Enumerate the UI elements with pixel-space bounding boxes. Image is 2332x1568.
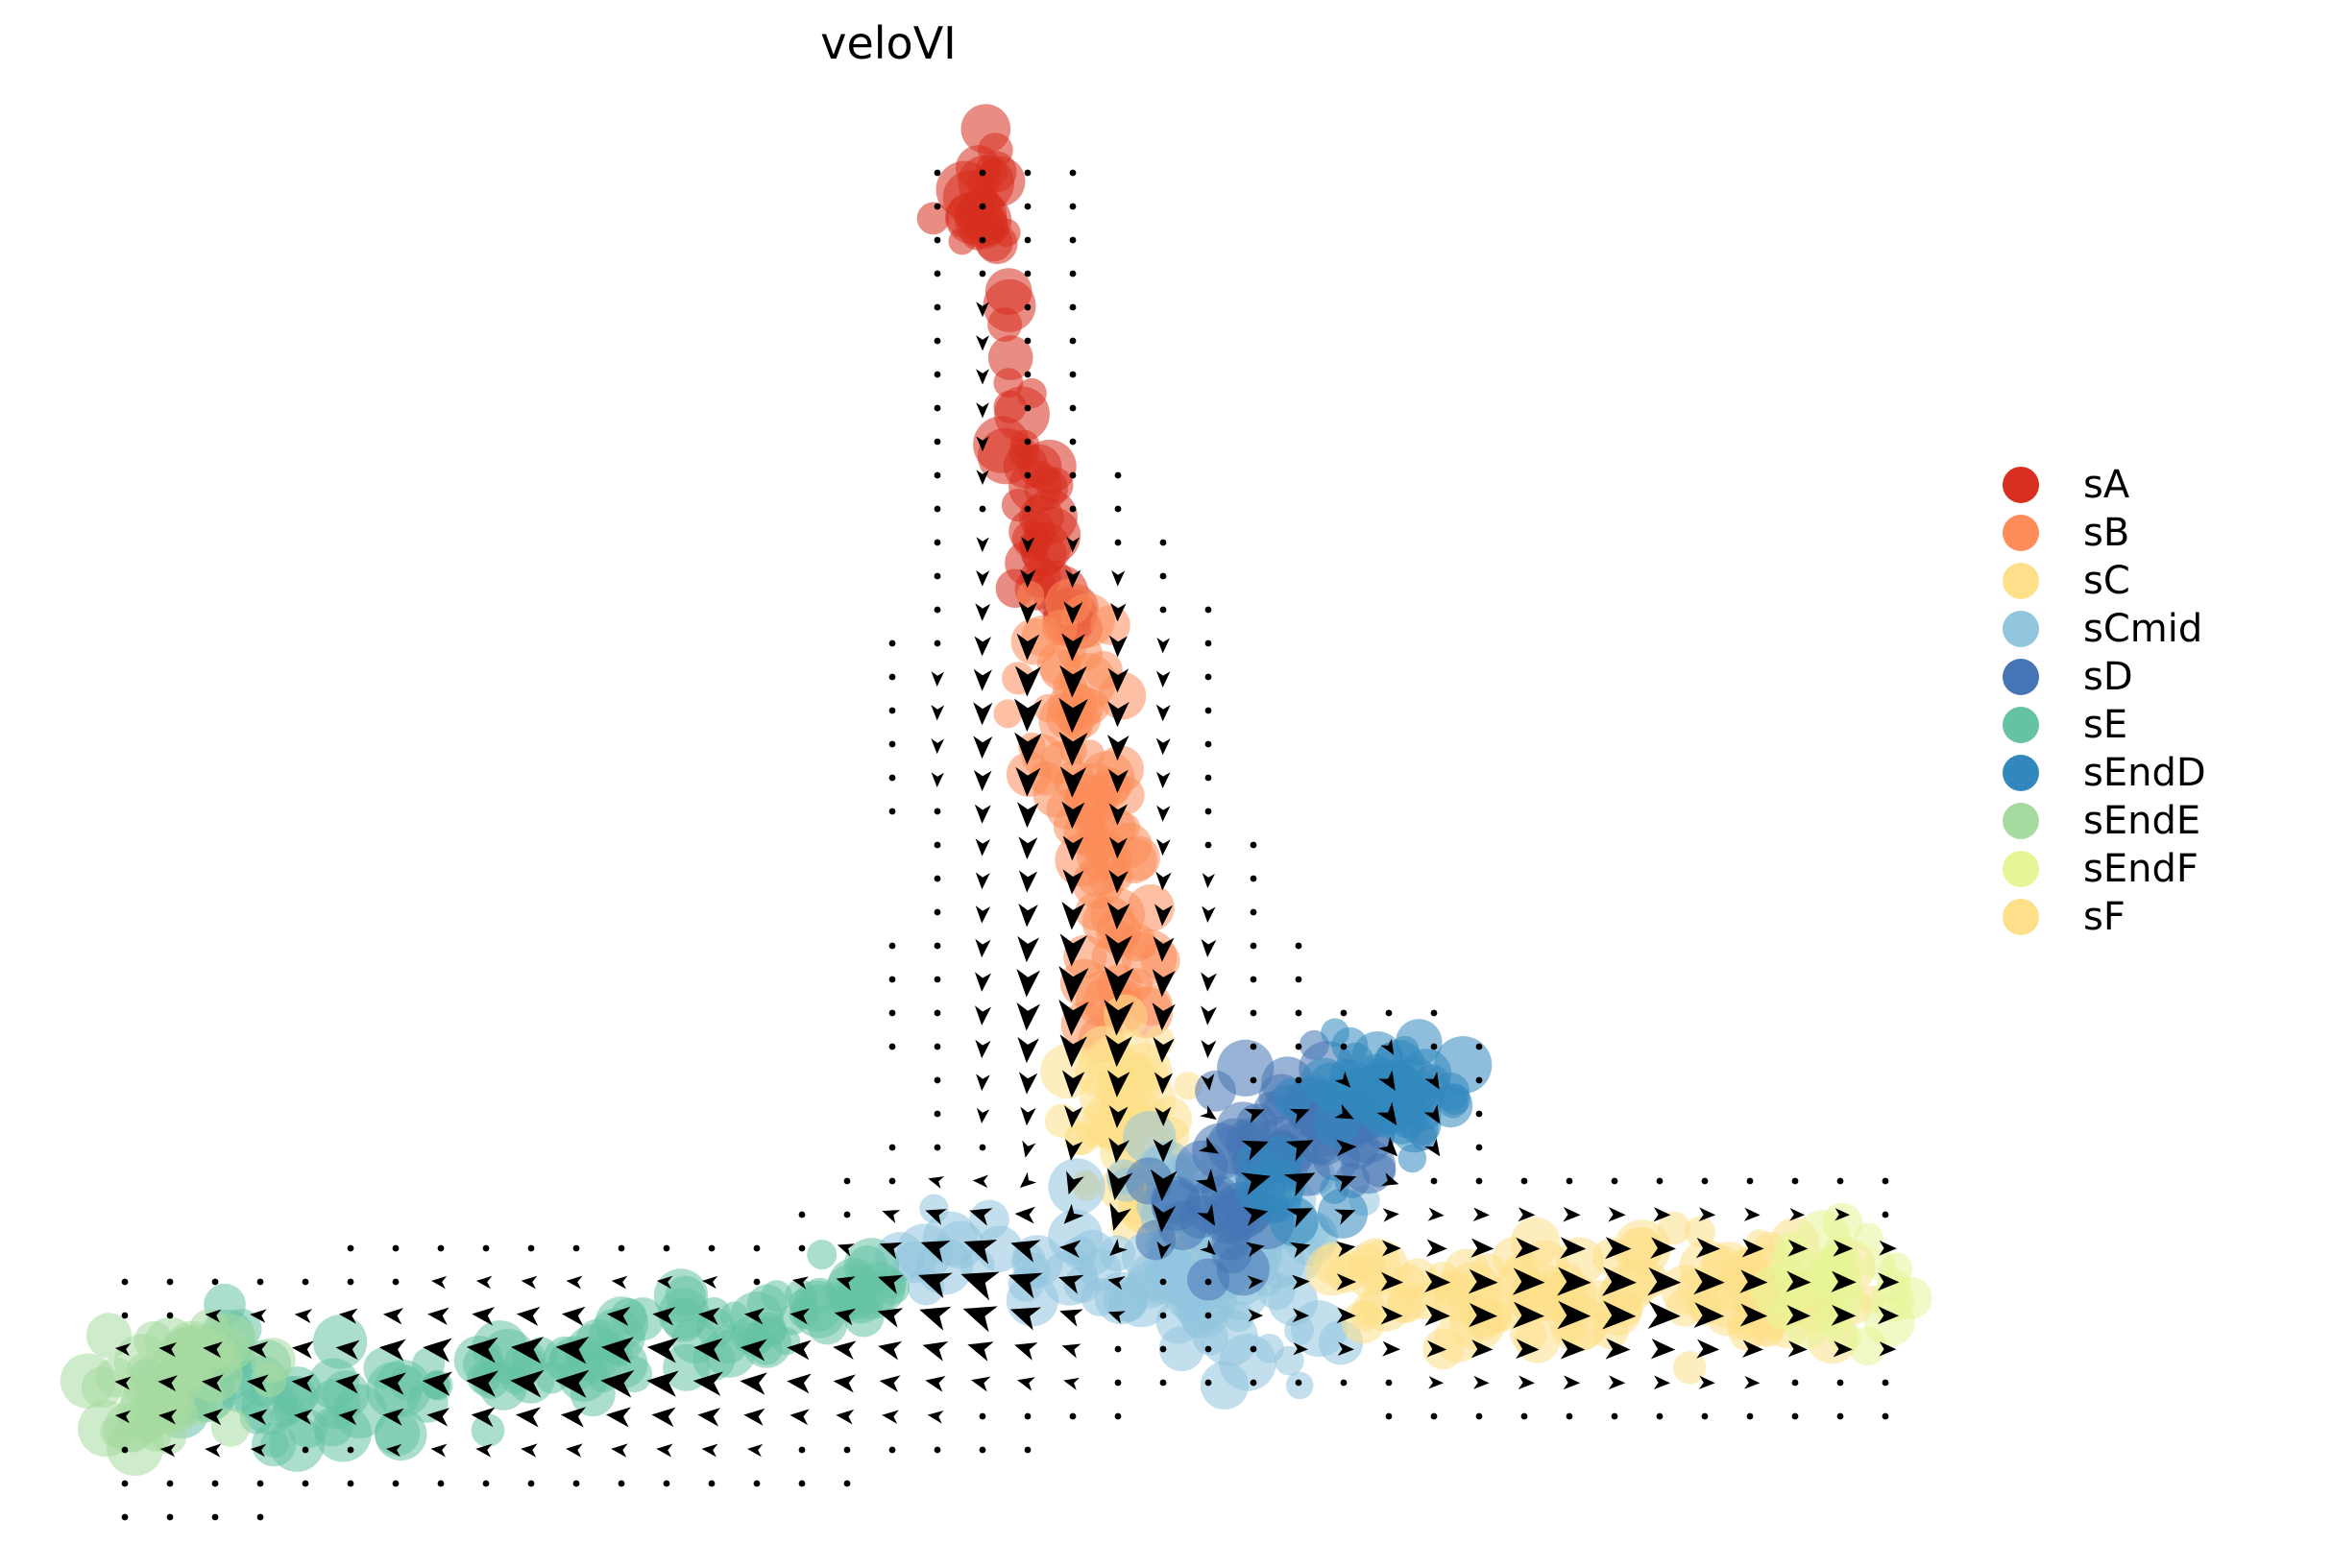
velocity-arrow-icon (1020, 939, 1037, 959)
velocity-null-dot (483, 1481, 490, 1487)
velocity-null-dot (303, 1481, 309, 1487)
velocity-arrow-icon (1202, 941, 1214, 955)
legend-item-scmid[interactable]: sCmid (2003, 605, 2320, 653)
legend-swatch-icon (2003, 515, 2039, 551)
scatter-point (720, 1301, 749, 1330)
legend-item-se[interactable]: sE (2003, 701, 2320, 749)
velocity-null-dot (1205, 842, 1212, 849)
velocity-arrow-icon (206, 1445, 220, 1456)
velocity-arrow-icon (1384, 1343, 1398, 1355)
velocity-null-dot (889, 808, 896, 815)
velocity-arrow-icon (658, 1445, 671, 1456)
velocity-arrow-icon (978, 572, 988, 585)
velocity-arrow-icon (1023, 1143, 1033, 1156)
velocity-null-dot (1070, 170, 1077, 177)
velocity-arrow-icon (564, 1409, 584, 1425)
legend-item-sa[interactable]: sA (2003, 461, 2320, 509)
velocity-arrow-icon (1475, 1377, 1488, 1387)
scatter-point (961, 104, 1011, 154)
velocity-null-dot (935, 170, 941, 177)
velocity-arrow-icon (294, 1342, 311, 1357)
velocity-null-dot (1657, 1178, 1664, 1185)
velocity-arrow-icon (1429, 1242, 1445, 1255)
velocity-null-dot (528, 1245, 535, 1252)
velocity-null-dot (935, 909, 941, 916)
velocity-null-dot (1296, 977, 1302, 983)
scatter-point (1217, 1242, 1270, 1295)
velocity-arrow-icon (613, 1445, 626, 1456)
velocity-null-dot (1837, 1178, 1844, 1185)
velocity-arrow-icon (519, 1409, 538, 1425)
legend-swatch-icon (2003, 611, 2039, 647)
velocity-null-dot (889, 977, 896, 983)
velocity-null-dot (935, 405, 941, 412)
velocity-null-dot (1431, 1413, 1438, 1420)
velocity-null-dot (1792, 1413, 1799, 1420)
velocity-null-dot (167, 1313, 174, 1319)
velocity-null-dot (438, 1481, 445, 1487)
scatter-point (260, 1430, 288, 1458)
velocity-null-dot (1160, 1380, 1167, 1387)
velocity-null-dot (167, 1514, 174, 1521)
velocity-arrow-icon (978, 371, 988, 383)
velocity-null-dot (257, 1514, 264, 1521)
velocity-arrow-icon (928, 1377, 944, 1389)
velocity-null-dot (1296, 1077, 1302, 1084)
scatter-point (761, 1280, 792, 1312)
scatter-point (919, 1194, 948, 1223)
velocity-arrow-icon (978, 1110, 987, 1122)
velocity-null-dot (1205, 1380, 1212, 1387)
legend-item-sende[interactable]: sEndE (2003, 797, 2320, 845)
velocity-null-dot (1431, 1044, 1438, 1050)
velocity-arrow-icon (1158, 774, 1169, 787)
velocity-null-dot (1567, 1413, 1573, 1420)
velocity-null-dot (1296, 1044, 1302, 1050)
velocity-null-dot (1476, 1044, 1483, 1050)
velocity-null-dot (1702, 1178, 1709, 1185)
legend-item-sendf[interactable]: sEndF (2003, 845, 2320, 893)
legend-item-label: sEndF (2083, 850, 2198, 888)
velocity-null-dot (1883, 1380, 1889, 1387)
velocity-arrow-icon (703, 1445, 716, 1456)
velocity-arrow-icon (1611, 1377, 1624, 1388)
velocity-null-dot (935, 842, 941, 849)
velocity-null-dot (1025, 506, 1032, 513)
velocity-null-dot (1115, 472, 1122, 479)
velocity-null-dot (1386, 1010, 1393, 1017)
velocity-arrow-icon (564, 1309, 582, 1324)
velocity-arrow-icon (432, 1445, 445, 1456)
legend-item-sendd[interactable]: sEndD (2003, 749, 2320, 797)
velocity-arrow-icon (1021, 1174, 1034, 1187)
velocity-null-dot (212, 1514, 219, 1521)
velocity-arrow-icon (522, 1277, 535, 1288)
velocity-null-dot (1296, 943, 1302, 950)
velocity-null-dot (483, 1245, 490, 1252)
velocity-null-dot (935, 271, 941, 277)
velocity-null-dot (889, 1044, 896, 1050)
velocity-null-dot (122, 1447, 129, 1454)
legend-item-label: sC (2083, 562, 2130, 600)
velocity-null-dot (1657, 1413, 1664, 1420)
legend-swatch-icon (2003, 851, 2039, 887)
velocity-arrow-icon (977, 941, 989, 955)
velocity-arrow-icon (1202, 975, 1215, 990)
velocity-arrow-icon (1520, 1377, 1533, 1387)
velocity-arrow-icon (975, 738, 990, 757)
velocity-arrow-icon (882, 1377, 898, 1390)
velocity-arrow-icon (654, 1410, 673, 1425)
velocity-arrow-icon (976, 671, 990, 688)
velocity-null-dot (935, 204, 941, 210)
velocity-null-dot (799, 1245, 806, 1252)
legend-item-sc[interactable]: sC (2003, 557, 2320, 605)
velocity-arrow-icon (474, 1309, 493, 1323)
velocity-null-dot (935, 1010, 941, 1017)
velocity-null-dot (889, 943, 896, 950)
velocity-null-dot (889, 775, 896, 782)
velocity-null-dot (935, 1145, 941, 1151)
velocity-arrow-icon (433, 1277, 446, 1287)
scatter-point (201, 1314, 257, 1370)
velocity-arrow-icon (1022, 1109, 1034, 1123)
legend: sAsBsCsCmidsDsEsEndDsEndEsEndFsF (2003, 461, 2320, 941)
scatter-point (936, 161, 994, 219)
velocity-null-dot (393, 1279, 400, 1286)
velocity-null-dot (1431, 1178, 1438, 1185)
velocity-arrow-icon (429, 1309, 447, 1322)
velocity-arrow-icon (1158, 673, 1169, 686)
legend-swatch-icon (2003, 659, 2039, 695)
velocity-null-dot (1025, 204, 1032, 210)
velocity-arrow-icon (836, 1376, 853, 1390)
velocity-arrow-icon (1157, 707, 1169, 720)
scatter-point (807, 1240, 837, 1269)
legend-item-label: sEndE (2083, 802, 2200, 840)
velocity-null-dot (1883, 1178, 1889, 1185)
velocity-null-dot (1025, 271, 1032, 277)
scatter-point (1391, 1036, 1420, 1065)
velocity-arrow-icon (1656, 1377, 1669, 1387)
velocity-null-dot (1612, 1413, 1618, 1420)
velocity-arrow-icon (1019, 1005, 1037, 1027)
velocity-null-dot (935, 338, 941, 345)
velocity-arrow-icon (1202, 1042, 1215, 1056)
velocity-arrow-icon (746, 1411, 763, 1424)
velocity-arrow-icon (978, 404, 988, 417)
velocity-null-dot (1115, 1380, 1122, 1387)
velocity-null-dot (1837, 1413, 1844, 1420)
velocity-arrow-icon (1064, 1345, 1080, 1357)
velocity-null-dot (1070, 204, 1077, 210)
velocity-null-dot (573, 1481, 580, 1487)
velocity-null-dot (980, 170, 986, 177)
velocity-null-dot (1386, 1380, 1393, 1387)
velocity-arrow-icon (838, 1411, 852, 1422)
legend-swatch-icon (2003, 707, 2039, 743)
velocity-null-dot (1251, 1077, 1257, 1084)
scatter-point (1123, 1111, 1176, 1164)
velocity-null-dot (1070, 1413, 1077, 1420)
velocity-null-dot (1205, 640, 1212, 647)
scatter-point (1037, 468, 1074, 504)
velocity-null-dot (1296, 1380, 1302, 1387)
velocity-arrow-icon (922, 1309, 947, 1327)
velocity-arrow-icon (700, 1410, 718, 1424)
velocity-arrow-icon (881, 1343, 899, 1358)
velocity-null-dot (844, 1178, 851, 1185)
velocity-arrow-icon (1019, 805, 1036, 825)
legend-swatch-icon (2003, 467, 2039, 503)
velocity-arrow-icon (977, 807, 989, 822)
velocity-arrow-icon (977, 605, 988, 619)
velocity-arrow-icon (613, 1277, 625, 1288)
velocity-null-dot (1341, 1010, 1348, 1017)
velocity-arrow-icon (1430, 1378, 1442, 1387)
velocity-null-dot (1883, 1413, 1889, 1420)
velocity-null-dot (573, 1245, 580, 1252)
velocity-null-dot (1205, 607, 1212, 614)
velocity-arrow-icon (1158, 639, 1169, 652)
velocity-null-dot (1205, 674, 1212, 681)
velocity-arrow-icon (929, 1411, 941, 1422)
velocity-null-dot (1296, 1010, 1302, 1017)
velocity-null-dot (980, 204, 986, 210)
legend-swatch-icon (2003, 755, 2039, 791)
velocity-null-dot (889, 708, 896, 714)
velocity-arrow-icon (1062, 1311, 1081, 1324)
velocity-null-dot (1205, 1313, 1212, 1319)
velocity-null-dot (1341, 1380, 1348, 1387)
velocity-arrow-icon (1203, 908, 1214, 922)
velocity-arrow-icon (1065, 1379, 1078, 1388)
velocity-null-dot (1747, 1413, 1754, 1420)
velocity-null-dot (1476, 1413, 1483, 1420)
legend-item-sd[interactable]: sD (2003, 653, 2320, 701)
velocity-null-dot (438, 1245, 445, 1252)
velocity-null-dot (935, 540, 941, 546)
velocity-arrow-icon (477, 1445, 491, 1456)
scatter-point (1321, 1019, 1349, 1048)
velocity-null-dot (1251, 909, 1257, 916)
velocity-null-dot (935, 472, 941, 479)
legend-item-label: sEndD (2083, 754, 2206, 792)
velocity-arrow-icon (1019, 972, 1037, 994)
legend-item-sb[interactable]: sB (2003, 509, 2320, 557)
velocity-null-dot (709, 1245, 716, 1252)
velocity-null-dot (348, 1447, 354, 1454)
velocity-arrow-icon (789, 1376, 809, 1391)
velocity-null-dot (1160, 607, 1167, 614)
velocity-null-dot (1567, 1178, 1573, 1185)
velocity-null-dot (619, 1245, 625, 1252)
velocity-embedding-plot[interactable] (0, 0, 2332, 1568)
velocity-null-dot (528, 1481, 535, 1487)
velocity-arrow-icon (1021, 873, 1035, 890)
scatter-point (1080, 751, 1134, 806)
velocity-null-dot (393, 1245, 400, 1252)
legend-item-label: sB (2083, 514, 2129, 552)
velocity-null-dot (664, 1481, 670, 1487)
velocity-null-dot (935, 1447, 941, 1454)
velocity-null-dot (1025, 405, 1032, 412)
scatter-point (1822, 1203, 1862, 1243)
velocity-null-dot (935, 439, 941, 446)
velocity-null-dot (844, 1212, 851, 1218)
velocity-null-dot (1521, 1178, 1528, 1185)
velocity-arrow-icon (977, 975, 989, 990)
velocity-null-dot (664, 1245, 670, 1252)
velocity-null-dot (167, 1279, 174, 1286)
velocity-arrow-icon (1019, 1378, 1033, 1388)
velocity-arrow-icon (1430, 1209, 1443, 1219)
scatter-point (1848, 1327, 1886, 1365)
velocity-null-dot (1025, 472, 1032, 479)
velocity-arrow-icon (1699, 1341, 1717, 1357)
velocity-null-dot (1115, 540, 1122, 546)
velocity-null-dot (167, 1481, 174, 1487)
velocity-null-dot (889, 1145, 896, 1151)
velocity-null-dot (1070, 237, 1077, 244)
velocity-null-dot (1025, 1413, 1032, 1420)
velocity-null-dot (1025, 237, 1032, 244)
velocity-arrow-icon (933, 673, 943, 685)
scatter-point (1235, 1164, 1286, 1215)
scatter-point (333, 1385, 387, 1438)
velocity-arrow-icon (1202, 1008, 1215, 1024)
velocity-arrow-icon (1565, 1209, 1578, 1220)
velocity-arrow-icon (1021, 839, 1036, 857)
velocity-null-dot (257, 1279, 264, 1286)
velocity-null-dot (212, 1279, 219, 1286)
velocity-arrow-icon (792, 1411, 808, 1423)
velocity-arrow-icon (1158, 841, 1170, 855)
velocity-arrow-icon (1020, 1040, 1037, 1060)
velocity-arrow-icon (977, 875, 988, 888)
velocity-arrow-icon (1475, 1209, 1489, 1219)
velocity-arrow-icon (964, 1273, 994, 1295)
velocity-null-dot (935, 876, 941, 882)
velocity-null-dot (1205, 1346, 1212, 1353)
velocity-null-dot (1070, 372, 1077, 378)
velocity-null-dot (1070, 271, 1077, 277)
velocity-null-dot (1070, 472, 1077, 479)
velocity-null-dot (889, 640, 896, 647)
scatter-point (1002, 489, 1034, 521)
velocity-null-dot (1025, 372, 1032, 378)
velocity-null-dot (303, 1279, 309, 1286)
velocity-null-dot (935, 1077, 941, 1084)
velocity-null-dot (303, 1447, 309, 1454)
velocity-null-dot (1747, 1178, 1754, 1185)
velocity-arrow-icon (978, 1075, 988, 1089)
velocity-arrow-icon (1021, 1074, 1035, 1092)
scatter-point (270, 1400, 298, 1428)
velocity-null-dot (1160, 1279, 1167, 1286)
velocity-null-dot (935, 640, 941, 647)
legend-item-sf[interactable]: sF (2003, 893, 2320, 941)
scatter-point (1438, 1088, 1469, 1119)
velocity-null-dot (122, 1279, 129, 1286)
velocity-null-dot (1251, 943, 1257, 950)
velocity-null-dot (1476, 1111, 1483, 1118)
legend-item-label: sCmid (2083, 610, 2202, 648)
velocity-null-dot (1431, 1010, 1438, 1017)
velocity-arrow-icon (1610, 1209, 1623, 1220)
velocity-null-dot (844, 1447, 851, 1454)
velocity-arrow-icon (977, 907, 988, 921)
legend-swatch-icon (2003, 899, 2039, 935)
figure-root: veloVI sAsBsCsCmidsDsEsEndDsEndEsEndFsF (0, 0, 2332, 1568)
velocity-null-dot (889, 1010, 896, 1017)
velocity-null-dot (122, 1514, 129, 1521)
velocity-null-dot (1883, 1212, 1889, 1218)
velocity-null-dot (1070, 338, 1077, 345)
velocity-arrow-icon (1746, 1378, 1759, 1388)
velocity-null-dot (1251, 1346, 1257, 1353)
velocity-arrow-icon (297, 1311, 310, 1322)
velocity-arrow-icon (519, 1309, 537, 1324)
velocity-arrow-icon (1203, 875, 1213, 886)
velocity-arrow-icon (742, 1375, 764, 1392)
velocity-null-dot (348, 1245, 354, 1252)
velocity-arrow-icon (1566, 1377, 1579, 1388)
velocity-arrow-icon (1017, 1208, 1033, 1221)
velocity-null-dot (348, 1279, 354, 1286)
velocity-null-dot (1251, 842, 1257, 849)
velocity-null-dot (754, 1279, 761, 1286)
velocity-null-dot (1521, 1413, 1528, 1420)
velocity-null-dot (844, 1481, 851, 1487)
velocity-null-dot (799, 1481, 806, 1487)
velocity-null-dot (1160, 573, 1167, 580)
velocity-null-dot (754, 1481, 761, 1487)
scatter-point (251, 1338, 296, 1383)
velocity-null-dot (935, 506, 941, 513)
scatter-point (1017, 378, 1047, 408)
velocity-arrow-icon (978, 471, 987, 483)
velocity-null-dot (257, 1481, 264, 1487)
velocity-null-dot (889, 674, 896, 681)
velocity-arrow-icon (1654, 1341, 1673, 1358)
velocity-null-dot (1160, 540, 1167, 546)
velocity-null-dot (1070, 506, 1077, 513)
velocity-arrow-icon (973, 1378, 988, 1389)
velocity-arrow-icon (974, 1176, 986, 1187)
velocity-null-dot (1612, 1178, 1618, 1185)
velocity-null-dot (935, 372, 941, 378)
velocity-null-dot (889, 1447, 896, 1454)
legend-item-label: sA (2083, 466, 2129, 504)
velocity-null-dot (980, 506, 986, 513)
velocity-null-dot (935, 304, 941, 311)
legend-item-label: sD (2083, 658, 2133, 696)
velocity-null-dot (799, 1447, 806, 1454)
velocity-null-dot (1476, 1077, 1483, 1084)
velocity-null-dot (935, 573, 941, 580)
scatter-point (1766, 1299, 1797, 1330)
velocity-arrow-icon (975, 705, 990, 723)
velocity-null-dot (1025, 170, 1032, 177)
legend-item-label: sF (2083, 898, 2126, 936)
velocity-null-dot (935, 977, 941, 983)
velocity-null-dot (348, 1481, 354, 1487)
velocity-arrow-icon (478, 1277, 491, 1288)
velocity-arrow-icon (522, 1445, 536, 1456)
scatter-point (1342, 1300, 1385, 1343)
legend-item-label: sE (2083, 706, 2127, 744)
